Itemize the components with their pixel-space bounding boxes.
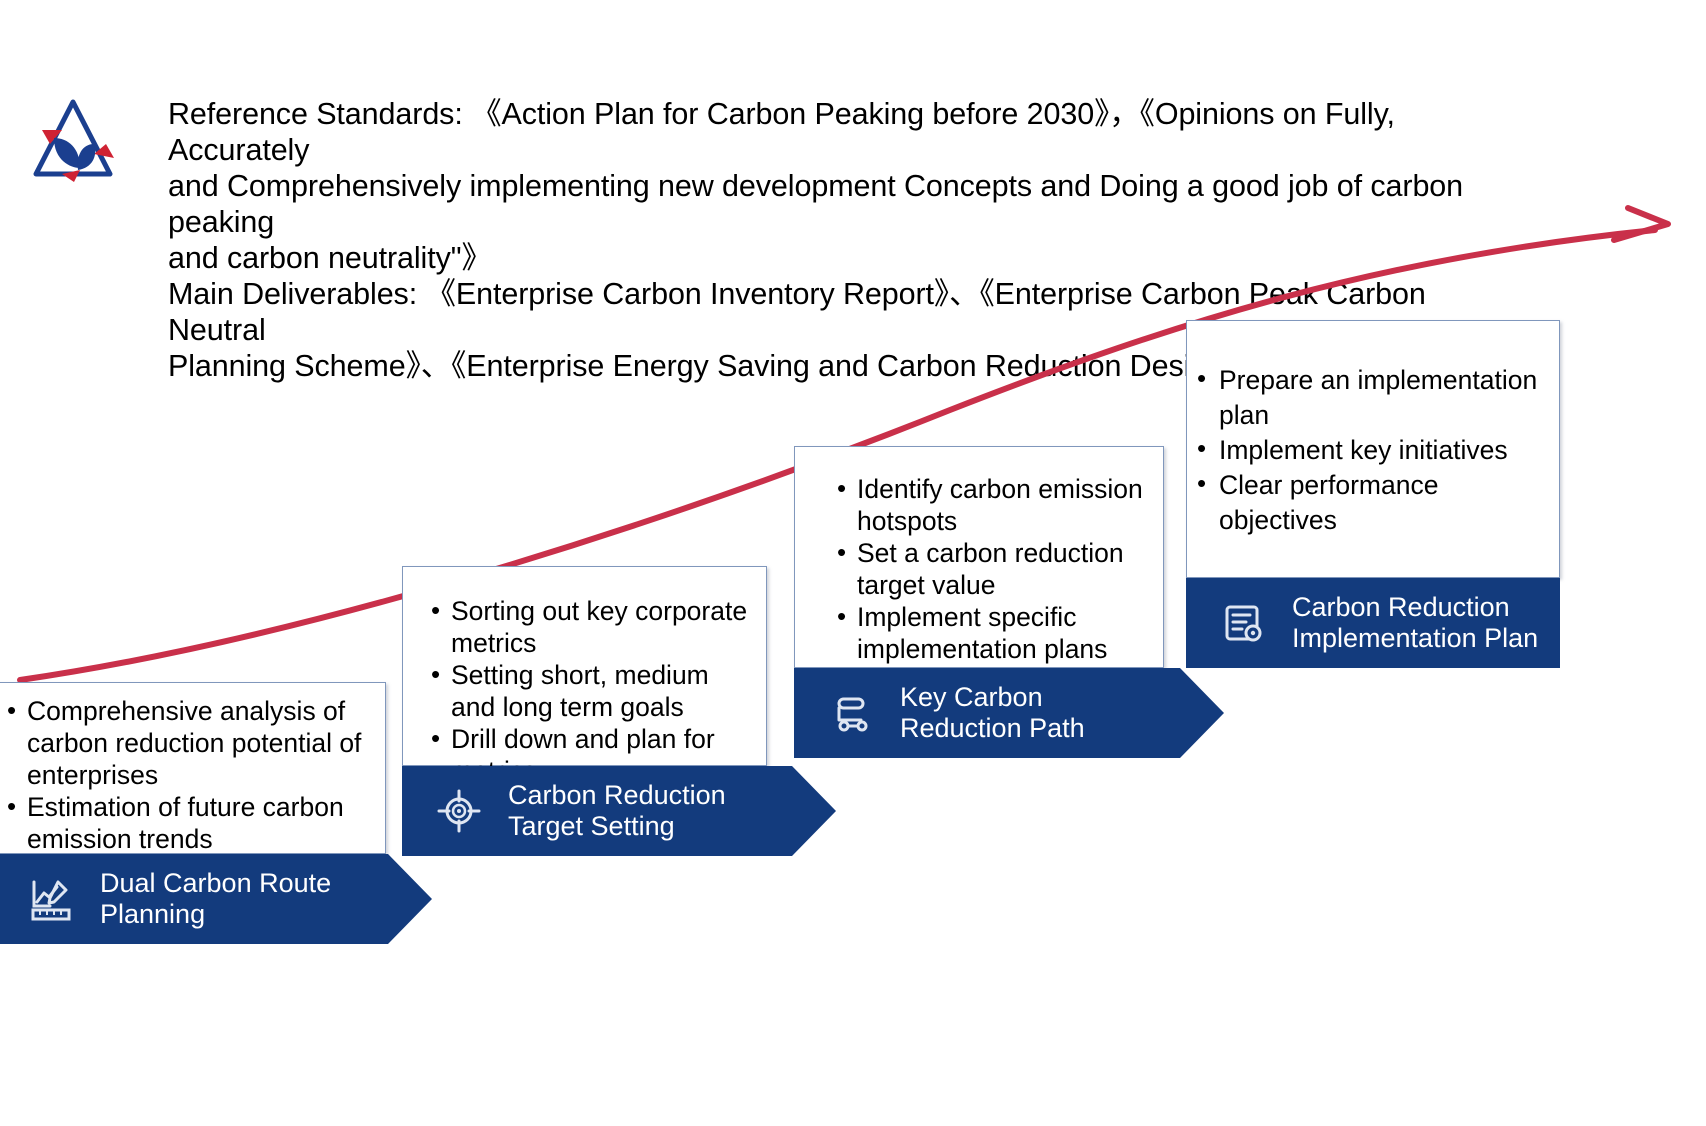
document-gear-icon bbox=[1220, 600, 1266, 646]
list-item: Setting short, medium and long term goal… bbox=[429, 659, 754, 723]
step-3-bullet-list: Identify carbon emission hotspots Set a … bbox=[835, 473, 1153, 665]
step-3-detail-box: Identify carbon emission hotspots Set a … bbox=[794, 446, 1164, 668]
step-1-banner[interactable]: Dual Carbon Route Planning bbox=[0, 854, 388, 944]
step-dual-carbon-route-planning[interactable]: Comprehensive analysis of carbon reducti… bbox=[0, 682, 386, 944]
step-4-label: Carbon Reduction Implementation Plan bbox=[1292, 592, 1538, 654]
step-1-label: Dual Carbon Route Planning bbox=[100, 868, 331, 930]
list-item: Implement key initiatives bbox=[1195, 433, 1549, 468]
step-key-carbon-reduction-path[interactable]: Identify carbon emission hotspots Set a … bbox=[794, 446, 1164, 758]
list-item: Comprehensive analysis of carbon reducti… bbox=[5, 695, 375, 791]
list-item: Implement specific implementation plans bbox=[835, 601, 1153, 665]
list-item: Prepare an implementation plan bbox=[1195, 363, 1549, 433]
header-line-3: and carbon neutrality"》 bbox=[168, 240, 1488, 276]
step-1-detail-box: Comprehensive analysis of carbon reducti… bbox=[0, 682, 386, 854]
step-4-banner[interactable]: Carbon Reduction Implementation Plan bbox=[1186, 578, 1560, 668]
step-carbon-reduction-implementation-plan[interactable]: Prepare an implementation plan Implement… bbox=[1186, 320, 1560, 668]
step-carbon-reduction-target-setting[interactable]: Sorting out key corporate metrics Settin… bbox=[402, 566, 767, 856]
step-2-bullet-list: Sorting out key corporate metrics Settin… bbox=[429, 595, 754, 787]
list-item: Set a carbon reduction target value bbox=[835, 537, 1153, 601]
list-item: Sorting out key corporate metrics bbox=[429, 595, 754, 659]
step-2-label: Carbon Reduction Target Setting bbox=[508, 780, 726, 842]
target-crosshair-icon bbox=[436, 788, 482, 834]
header-line-2: and Comprehensively implementing new dev… bbox=[168, 168, 1488, 240]
list-item: Identify carbon emission hotspots bbox=[835, 473, 1153, 537]
step-4-detail-box: Prepare an implementation plan Implement… bbox=[1186, 320, 1560, 578]
step-2-detail-box: Sorting out key corporate metrics Settin… bbox=[402, 566, 767, 766]
step-4-bullet-list: Prepare an implementation plan Implement… bbox=[1195, 363, 1549, 538]
path-nodes-icon bbox=[828, 690, 874, 736]
step-3-banner[interactable]: Key Carbon Reduction Path bbox=[794, 668, 1180, 758]
slide-canvas: Reference Standards: 《Action Plan for Ca… bbox=[0, 0, 1706, 1126]
step-3-label: Key Carbon Reduction Path bbox=[900, 682, 1085, 744]
header-line-1: Reference Standards: 《Action Plan for Ca… bbox=[168, 96, 1488, 168]
list-item: Estimation of future carbon emission tre… bbox=[5, 791, 375, 855]
list-item: Clear performance objectives bbox=[1195, 468, 1549, 538]
recycle-leaf-icon bbox=[14, 82, 132, 194]
chart-pencil-ruler-icon bbox=[28, 876, 74, 922]
step-2-banner[interactable]: Carbon Reduction Target Setting bbox=[402, 766, 792, 856]
